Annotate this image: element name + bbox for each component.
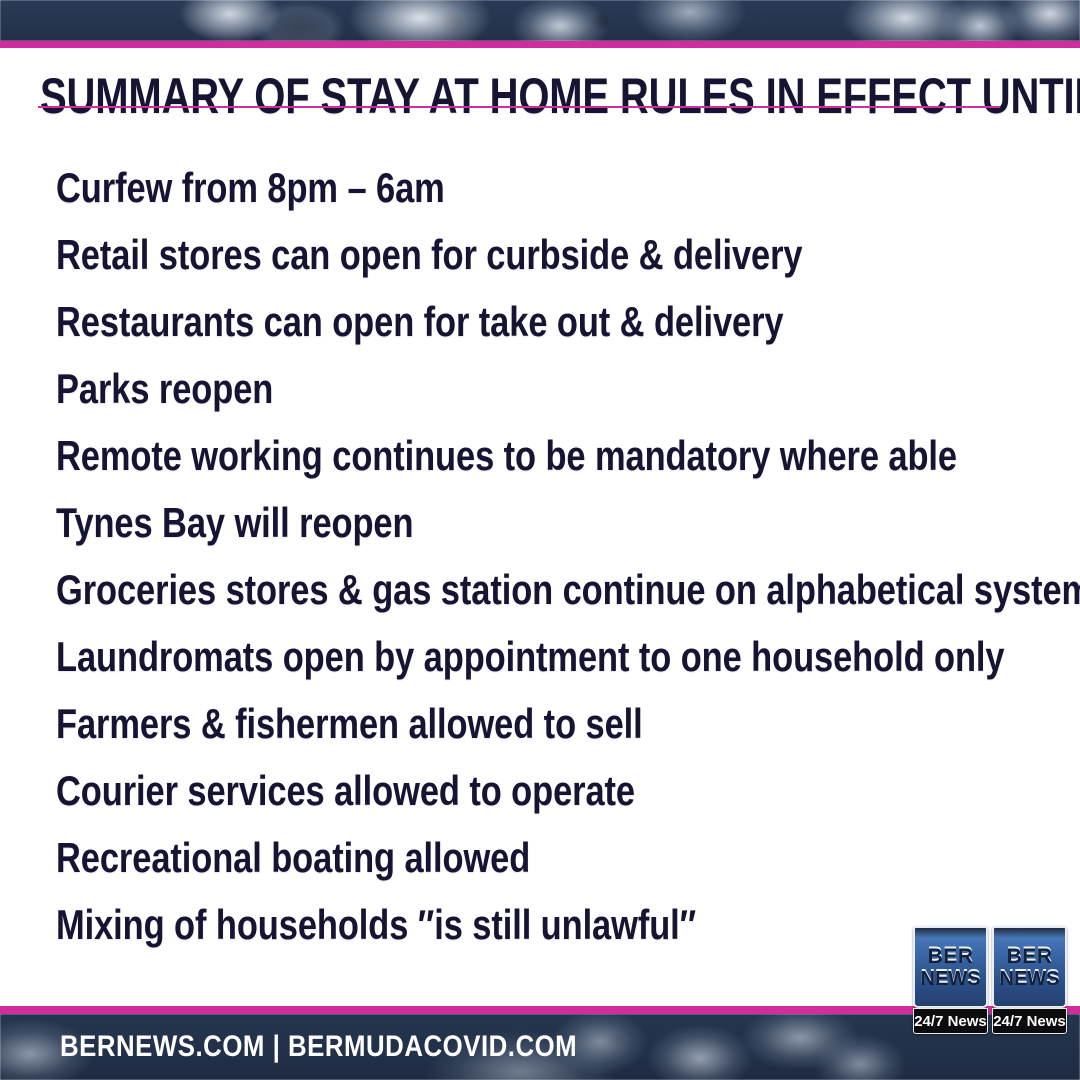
logo-tagline-bar: 24/7 News	[992, 1008, 1067, 1034]
page-title: SUMMARY OF STAY AT HOME RULES IN EFFECT …	[40, 70, 848, 122]
list-item: Parks reopen	[56, 355, 884, 422]
logo-word-news: NEWS	[921, 967, 981, 990]
logo-shield-icon: BER NEWS	[992, 926, 1067, 1008]
logo-tagline-bar: 24/7 News	[913, 1008, 988, 1034]
logo-word-ber: BER	[1007, 944, 1053, 967]
title-block: SUMMARY OF STAY AT HOME RULES IN EFFECT …	[40, 70, 1050, 122]
title-underline	[38, 106, 1000, 108]
bernews-logo[interactable]: BER NEWS 24/7 News BER NEWS 24/7 News	[913, 926, 1067, 1040]
list-item: Restaurants can open for take out & deli…	[56, 288, 884, 355]
logo-word-news: NEWS	[1000, 967, 1060, 990]
list-item: Courier services allowed to operate	[56, 757, 884, 824]
list-item: Tynes Bay will reopen	[56, 489, 884, 556]
logo-tagline: 24/7 News	[993, 1014, 1066, 1029]
footer-websites[interactable]: BERNEWS.COM | BERMUDACOVID.COM	[60, 1032, 577, 1062]
list-item: Groceries stores & gas station continue …	[56, 556, 884, 623]
top-virus-banner	[0, 0, 1080, 41]
list-item: Curfew from 8pm – 6am	[56, 154, 884, 221]
list-item: Farmers & fishermen allowed to sell	[56, 690, 884, 757]
logo-tagline: 24/7 News	[914, 1014, 987, 1029]
list-item: Remote working continues to be mandatory…	[56, 422, 884, 489]
top-accent-rule	[0, 41, 1080, 48]
logo-shield-icon: BER NEWS	[913, 926, 988, 1008]
list-item: Recreational boating allowed	[56, 824, 884, 891]
rules-list: Curfew from 8pm – 6am Retail stores can …	[56, 154, 1066, 958]
logo-word-ber: BER	[928, 944, 974, 967]
list-item: Laundromats open by appointment to one h…	[56, 623, 884, 690]
logo-panel-right: BER NEWS 24/7 News	[992, 926, 1067, 1040]
poster-canvas: SUMMARY OF STAY AT HOME RULES IN EFFECT …	[0, 0, 1080, 1080]
list-item: Retail stores can open for curbside & de…	[56, 221, 884, 288]
list-item: Mixing of households ″is still unlawful″	[56, 891, 884, 958]
poster-body: SUMMARY OF STAY AT HOME RULES IN EFFECT …	[0, 48, 1080, 1006]
logo-panel-left: BER NEWS 24/7 News	[913, 926, 988, 1040]
